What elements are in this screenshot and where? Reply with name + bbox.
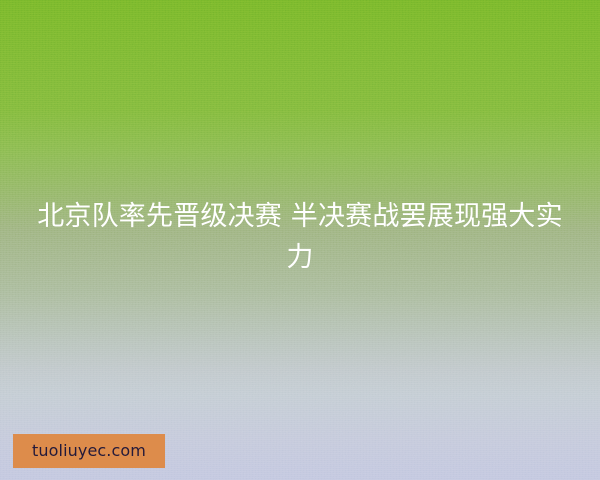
page-title: 北京队率先晋级决赛 半决赛战罢展现强大实力	[32, 196, 568, 278]
headline-container: 北京队率先晋级决赛 半决赛战罢展现强大实力	[0, 196, 600, 278]
watermark-label: tuoliuyec.com	[32, 443, 146, 459]
watermark-badge: tuoliuyec.com	[13, 434, 165, 468]
image-canvas: 北京队率先晋级决赛 半决赛战罢展现强大实力 tuoliuyec.com	[0, 0, 600, 480]
